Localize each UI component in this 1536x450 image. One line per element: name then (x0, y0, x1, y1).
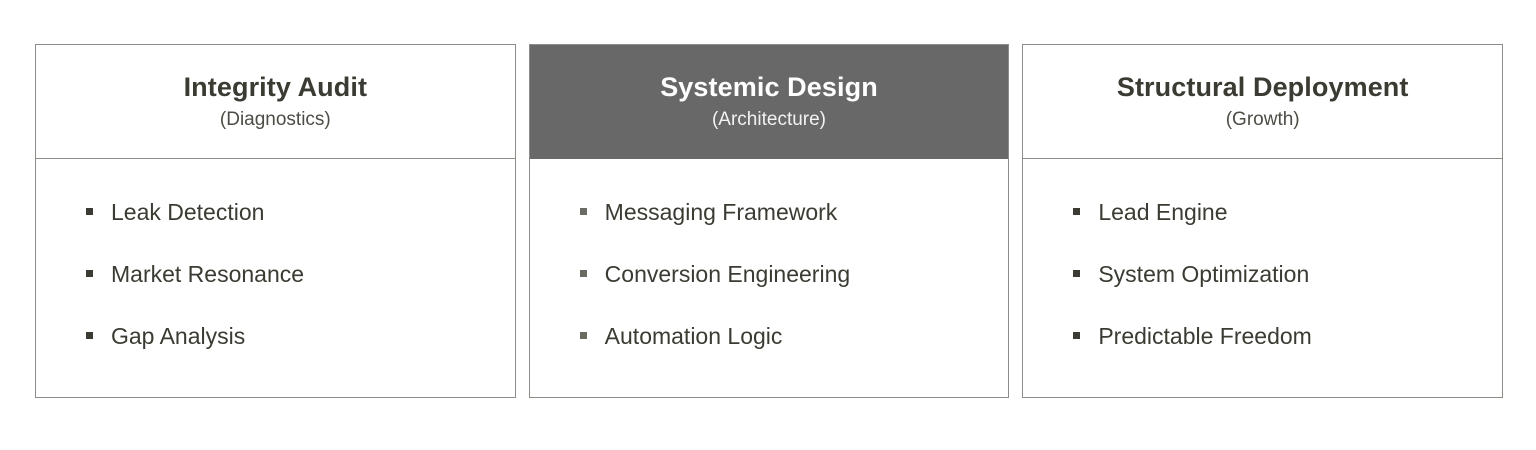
column-header: Structural Deployment (Growth) (1023, 45, 1502, 159)
column-title: Integrity Audit (184, 72, 368, 102)
column-body: Leak Detection Market Resonance Gap Anal… (36, 159, 515, 397)
square-bullet-icon (580, 332, 587, 339)
list-item[interactable]: Predictable Freedom (1023, 325, 1502, 387)
square-bullet-icon (580, 270, 587, 277)
list-item[interactable]: Lead Engine (1023, 201, 1502, 263)
square-bullet-icon (1073, 332, 1080, 339)
list-item[interactable]: Market Resonance (36, 263, 515, 325)
square-bullet-icon (86, 332, 93, 339)
bullet-list: Messaging Framework Conversion Engineeri… (530, 201, 1009, 387)
column-body: Lead Engine System Optimization Predicta… (1023, 159, 1502, 397)
column-card-systemic-design[interactable]: Systemic Design (Architecture) Messaging… (529, 44, 1010, 398)
column-body: Messaging Framework Conversion Engineeri… (530, 159, 1009, 397)
column-header-highlighted: Systemic Design (Architecture) (530, 45, 1009, 159)
column-header: Integrity Audit (Diagnostics) (36, 45, 515, 159)
list-item-label: Lead Engine (1098, 201, 1227, 224)
column-subtitle: (Growth) (1226, 109, 1300, 131)
column-title: Structural Deployment (1117, 72, 1409, 102)
list-item[interactable]: Conversion Engineering (530, 263, 1009, 325)
list-item-label: System Optimization (1098, 263, 1309, 286)
column-subtitle: (Diagnostics) (220, 109, 331, 131)
list-item-label: Messaging Framework (605, 201, 838, 224)
bullet-list: Leak Detection Market Resonance Gap Anal… (36, 201, 515, 387)
list-item[interactable]: Automation Logic (530, 325, 1009, 387)
list-item-label: Leak Detection (111, 201, 264, 224)
list-item-label: Gap Analysis (111, 325, 245, 348)
square-bullet-icon (1073, 208, 1080, 215)
list-item-label: Automation Logic (605, 325, 783, 348)
column-subtitle: (Architecture) (712, 109, 826, 131)
square-bullet-icon (86, 208, 93, 215)
list-item[interactable]: System Optimization (1023, 263, 1502, 325)
column-group: Integrity Audit (Diagnostics) Leak Detec… (35, 44, 1503, 398)
list-item-label: Conversion Engineering (605, 263, 851, 286)
square-bullet-icon (86, 270, 93, 277)
column-card-integrity-audit[interactable]: Integrity Audit (Diagnostics) Leak Detec… (35, 44, 516, 398)
list-item-label: Market Resonance (111, 263, 304, 286)
bullet-list: Lead Engine System Optimization Predicta… (1023, 201, 1502, 387)
three-column-framework: Integrity Audit (Diagnostics) Leak Detec… (0, 0, 1536, 450)
list-item[interactable]: Gap Analysis (36, 325, 515, 387)
column-card-structural-deployment[interactable]: Structural Deployment (Growth) Lead Engi… (1022, 44, 1503, 398)
column-title: Systemic Design (660, 72, 878, 102)
square-bullet-icon (580, 208, 587, 215)
list-item[interactable]: Leak Detection (36, 201, 515, 263)
list-item-label: Predictable Freedom (1098, 325, 1312, 348)
square-bullet-icon (1073, 270, 1080, 277)
list-item[interactable]: Messaging Framework (530, 201, 1009, 263)
